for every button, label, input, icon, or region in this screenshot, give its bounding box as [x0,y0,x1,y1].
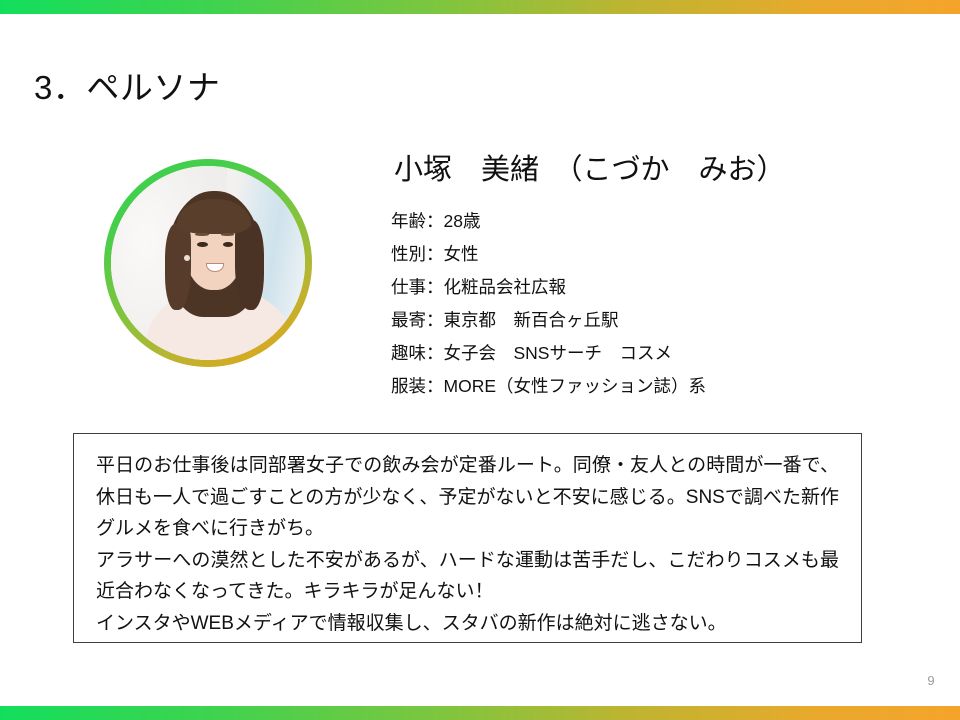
persona-description-content: 平日のお仕事後は同部署女子での飲み会が定番ルート。同僚・友人との時間が一番で、休… [74,434,861,639]
portrait-eye-right [223,242,234,247]
persona-attribute-list: 年齢：28歳 性別：女性 仕事：化粧品会社広報 最寄：東京都 新百合ヶ丘駅 趣味… [391,205,821,403]
persona-description-box: 平日のお仕事後は同部署女子での飲み会が定番ルート。同僚・友人との時間が一番で、休… [73,433,862,643]
top-accent-bar [0,0,960,14]
persona-name: 小塚 美緒 （こづか みお） [394,150,786,190]
bottom-accent-bar [0,706,960,720]
portrait-earring [184,255,190,261]
persona-photo-frame [104,159,312,367]
persona-attribute-hobby: 趣味：女子会 SNSサーチ コスメ [391,337,821,370]
portrait-hair-left [165,224,190,309]
persona-photo [111,166,305,360]
portrait-eyebrow-left [195,233,209,236]
portrait-eyebrow-right [221,233,235,236]
portrait-hair-right [235,220,264,309]
portrait-eye-left [197,242,208,247]
page-title: 3．ペルソナ [34,66,220,110]
persona-description-paragraph-1: 平日のお仕事後は同部署女子での飲み会が定番ルート。同僚・友人との時間が一番で、休… [96,450,839,545]
persona-description-paragraph-2: アラサーへの漠然とした不安があるが、ハードな運動は苦手だし、こだわりコスメも最近… [96,545,839,608]
persona-attribute-job: 仕事：化粧品会社広報 [391,271,821,304]
persona-description-paragraph-3: インスタやWEBメディアで情報収集し、スタバの新作は絶対に逃さない。 [96,608,839,640]
persona-attribute-gender: 性別：女性 [391,238,821,271]
persona-attribute-fashion: 服装：MORE（女性ファッション誌）系 [391,370,821,403]
persona-attribute-age: 年齢：28歳 [391,205,821,238]
persona-attribute-nearest-station: 最寄：東京都 新百合ヶ丘駅 [391,304,821,337]
page-number: 9 [920,673,942,688]
